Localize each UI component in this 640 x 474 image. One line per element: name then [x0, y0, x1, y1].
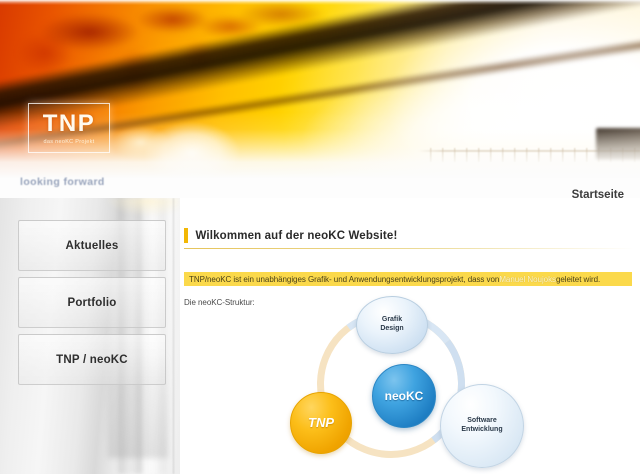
sidebar-item-portfolio[interactable]: Portfolio: [18, 277, 166, 328]
diagram-node-label-line1: Software: [467, 417, 497, 426]
page-headline: Wilkommen auf der neoKC Website!: [184, 228, 636, 243]
diagram-node-software-entwicklung[interactable]: Software Entwicklung: [440, 384, 524, 468]
page-root: TNP das neoKC Projekt looking forward St…: [0, 0, 640, 474]
page-title: Wilkommen auf der neoKC Website!: [196, 230, 398, 242]
site-tagline: looking forward: [20, 176, 105, 188]
diagram-node-grafik-design[interactable]: Grafik Design: [356, 296, 428, 354]
structure-label: Die neoKC-Struktur:: [184, 298, 255, 307]
sidebar: Aktuelles Portfolio TNP / neoKC: [0, 198, 180, 474]
tnp-logo-subtitle: das neoKC Projekt: [44, 139, 95, 145]
main-content: Wilkommen auf der neoKC Website! TNP/neo…: [180, 198, 640, 474]
sidebar-item-aktuelles[interactable]: Aktuelles: [18, 220, 166, 271]
diagram-node-neokc-center[interactable]: neoKC: [372, 364, 436, 428]
headline-divider: [184, 248, 634, 249]
sidebar-item-label: Portfolio: [67, 297, 116, 309]
intro-text-before: TNP/neoKC ist ein unabhängiges Grafik- u…: [189, 275, 499, 284]
headline-accent-bar: [184, 228, 188, 243]
diagram-node-label-line1: TNP: [308, 415, 334, 431]
diagram-center-label: neoKC: [385, 389, 424, 404]
intro-author-link[interactable]: Manuel Noujoks: [499, 275, 556, 284]
tnp-logo-mark: TNP: [43, 112, 96, 136]
sidebar-edge-line: [173, 198, 174, 474]
banner-top-highlight: [0, 0, 640, 5]
neokc-structure-diagram: Grafik Design Software Entwicklung TNP n…: [290, 296, 550, 474]
diagram-node-label-line2: Entwicklung: [461, 426, 502, 435]
sidebar-item-tnp-neokc[interactable]: TNP / neoKC: [18, 334, 166, 385]
sidebar-nav: Aktuelles Portfolio TNP / neoKC: [18, 220, 166, 391]
intro-highlight-band: TNP/neoKC ist ein unabhängiges Grafik- u…: [184, 272, 632, 286]
sidebar-item-label: TNP / neoKC: [56, 354, 128, 366]
intro-text-after: geleitet wird.: [556, 275, 600, 284]
diagram-node-label-line1: Grafik: [382, 316, 402, 325]
diagram-node-label-line2: Design: [380, 325, 403, 334]
header-banner-image: TNP das neoKC Projekt: [0, 0, 640, 178]
sidebar-item-label: Aktuelles: [66, 240, 119, 252]
tnp-logo[interactable]: TNP das neoKC Projekt: [28, 103, 110, 153]
diagram-node-tnp[interactable]: TNP: [290, 392, 352, 454]
